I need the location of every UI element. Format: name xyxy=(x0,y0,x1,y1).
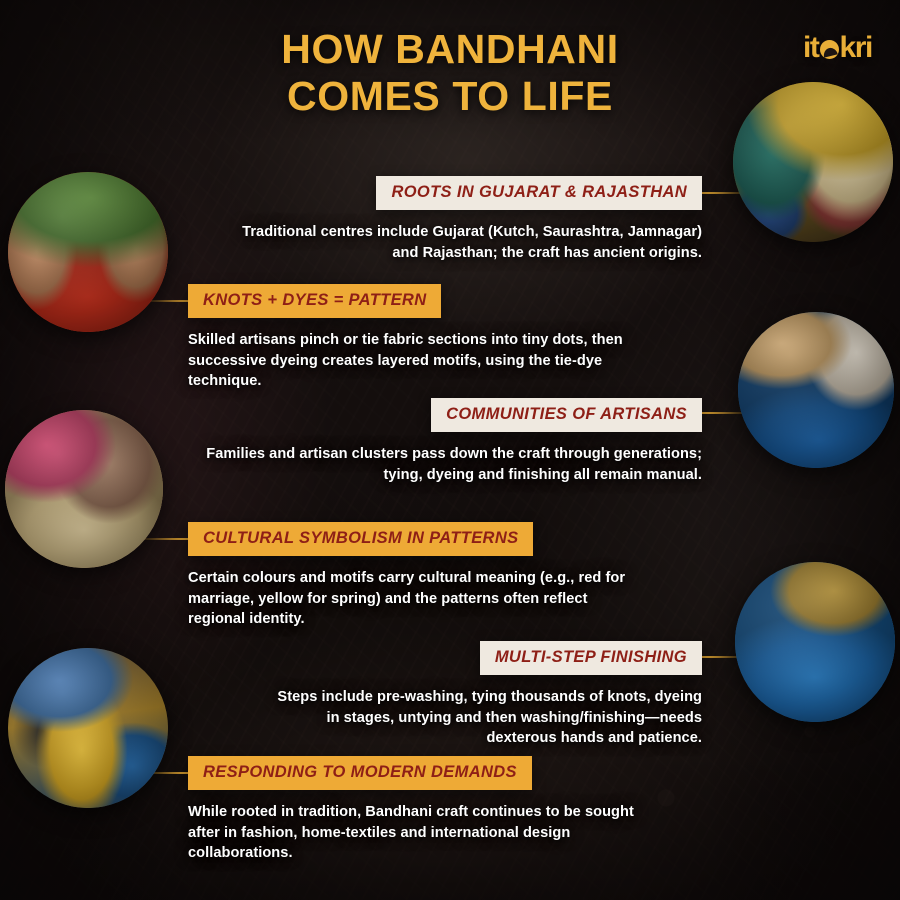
step-responding-to-modern-demands: RESPONDING TO MODERN DEMANDS While roote… xyxy=(188,756,658,864)
brand-logo-text-right: kri xyxy=(840,31,873,64)
photo-fabric-in-dye-vat[interactable] xyxy=(735,562,895,722)
step-body-6: While rooted in tradition, Bandhani craf… xyxy=(188,802,658,864)
step-body-1: Traditional centres include Gujarat (Kut… xyxy=(232,222,702,263)
step-roots-in-gujarat-rajasthan: ROOTS IN GUJARAT & RAJASTHAN Traditional… xyxy=(232,176,702,263)
step-body-2: Skilled artisans pinch or tie fabric sec… xyxy=(188,330,653,392)
photo-frame xyxy=(5,410,163,568)
photo-frame xyxy=(8,648,168,808)
photo-shade xyxy=(738,312,894,468)
photo-shade xyxy=(8,648,168,808)
photo-frame xyxy=(738,312,894,468)
photo-dyer-at-blue-vat[interactable] xyxy=(738,312,894,468)
step-label-5[interactable]: MULTI-STEP FINISHING xyxy=(480,641,702,675)
title-line-1: HOW BANDHANI xyxy=(0,26,900,73)
step-body-3: Families and artisan clusters pass down … xyxy=(198,444,702,485)
page-title: HOW BANDHANI COMES TO LIFE xyxy=(0,26,900,120)
step-body-4: Certain colours and motifs carry cultura… xyxy=(188,568,648,630)
step-label-2[interactable]: KNOTS + DYES = PATTERN xyxy=(188,284,441,318)
step-cultural-symbolism-in-patterns: CULTURAL SYMBOLISM IN PATTERNS Certain c… xyxy=(188,522,648,630)
step-label-6[interactable]: RESPONDING TO MODERN DEMANDS xyxy=(188,756,532,790)
title-line-2: COMES TO LIFE xyxy=(0,73,900,120)
step-communities-of-artisans: COMMUNITIES OF ARTISANS Families and art… xyxy=(198,398,702,485)
photo-shade xyxy=(5,410,163,568)
photo-frame xyxy=(735,562,895,722)
photo-woman-with-fabric-bundle[interactable] xyxy=(5,410,163,568)
brand-logo-text-left: it xyxy=(803,31,819,64)
photo-shade xyxy=(8,172,168,332)
brand-logo-itokri[interactable]: itkri xyxy=(803,33,872,63)
step-label-3[interactable]: COMMUNITIES OF ARTISANS xyxy=(431,398,702,432)
infographic-poster: HOW BANDHANI COMES TO LIFE itkri xyxy=(0,0,900,900)
photo-shade xyxy=(735,562,895,722)
photo-dyer-with-yellow-fabric[interactable] xyxy=(8,648,168,808)
step-body-5: Steps include pre-washing, tying thousan… xyxy=(262,687,702,749)
step-knots-dyes-pattern: KNOTS + DYES = PATTERN Skilled artisans … xyxy=(188,284,653,392)
step-label-4[interactable]: CULTURAL SYMBOLISM IN PATTERNS xyxy=(188,522,533,556)
photo-hands-tying-red-fabric[interactable] xyxy=(8,172,168,332)
photo-frame xyxy=(8,172,168,332)
step-label-1[interactable]: ROOTS IN GUJARAT & RAJASTHAN xyxy=(376,176,702,210)
brand-logo-o-mark xyxy=(820,40,839,59)
step-multi-step-finishing: MULTI-STEP FINISHING Steps include pre-w… xyxy=(262,641,702,749)
